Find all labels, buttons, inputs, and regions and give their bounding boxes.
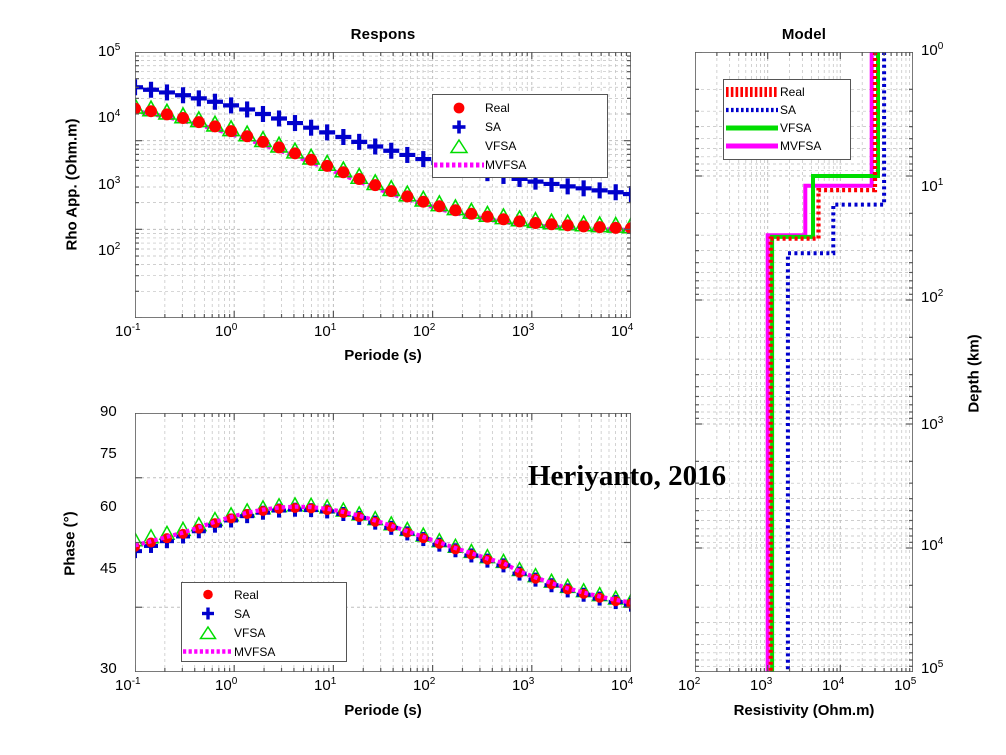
- phase-ytick-75: 75: [100, 445, 117, 462]
- response-ytick-1e3: 103: [98, 175, 120, 193]
- model-ytick-1e0: 100: [921, 41, 943, 59]
- model-xtick-1e3: 103: [750, 676, 772, 694]
- exp: 4: [839, 676, 845, 687]
- phase-ytick-30: 30: [100, 660, 117, 677]
- legend-row-real: Real: [724, 83, 850, 101]
- plus-icon: [433, 119, 485, 135]
- response-xtick-1e1: 101: [314, 322, 336, 340]
- dotted-line-icon: [182, 646, 234, 657]
- exp: 5: [938, 659, 944, 670]
- legend-label: VFSA: [234, 626, 265, 640]
- exp: 5: [115, 42, 121, 53]
- exp: 3: [767, 676, 773, 687]
- exp: 3: [115, 175, 121, 186]
- response-ytick-1e4: 104: [98, 108, 120, 126]
- response-ytick-1e5: 105: [98, 42, 120, 60]
- model-xtick-1e2: 102: [678, 676, 700, 694]
- legend-label: MVFSA: [234, 645, 275, 659]
- circle-icon: [182, 588, 234, 601]
- exp: 2: [695, 676, 701, 687]
- model-xtick-1e4: 104: [822, 676, 844, 694]
- phase-ytick-90: 90: [100, 403, 117, 420]
- exp: 2: [430, 322, 436, 333]
- response-xtick-1e3: 103: [512, 322, 534, 340]
- response-xtick-1e4: 104: [611, 322, 633, 340]
- phase-xaxis-label: Periode (s): [268, 702, 498, 719]
- phase-xtick-1em1: 10-1: [115, 676, 141, 694]
- exp: 2: [115, 241, 121, 252]
- exp: 0: [232, 322, 238, 333]
- model-ytick-1e2: 102: [921, 288, 943, 306]
- exp: 1: [938, 177, 944, 188]
- response-panel: Respons: [135, 52, 631, 318]
- legend-row-vfsa: VFSA: [433, 136, 607, 155]
- model-title: Model: [695, 26, 913, 43]
- exp: 4: [938, 536, 944, 547]
- legend-row-real: Real: [433, 98, 607, 117]
- exp: -1: [132, 676, 141, 687]
- exp: 4: [628, 676, 634, 687]
- circle-icon: [433, 101, 485, 115]
- exp: 3: [529, 676, 535, 687]
- legend-label: Real: [234, 588, 259, 602]
- solid-line-icon: [724, 140, 780, 152]
- model-ytick-1e5: 105: [921, 659, 943, 677]
- response-plot-area: [135, 52, 631, 318]
- phase-xtick-1e1: 101: [314, 676, 336, 694]
- legend-label: SA: [234, 607, 250, 621]
- triangle-icon: [433, 138, 485, 154]
- exp: 4: [628, 322, 634, 333]
- exp: 3: [938, 415, 944, 426]
- response-xtick-1e0: 100: [215, 322, 237, 340]
- plus-icon: [182, 606, 234, 621]
- legend-row-sa: SA: [724, 101, 850, 119]
- exp: 1: [331, 676, 337, 687]
- response-xtick-1e2: 102: [413, 322, 435, 340]
- watermark-citation: Heriyanto, 2016: [528, 460, 726, 493]
- legend-label: SA: [485, 120, 501, 134]
- legend-row-vfsa: VFSA: [182, 623, 346, 642]
- exp: 2: [938, 288, 944, 299]
- model-ytick-1e4: 104: [921, 536, 943, 554]
- legend-label: Real: [485, 101, 510, 115]
- phase-legend: Real SA VFSA MVFSA: [181, 582, 347, 662]
- exp: -1: [132, 322, 141, 333]
- model-ytick-1e3: 103: [921, 415, 943, 433]
- legend-label: Real: [780, 85, 805, 99]
- legend-label: VFSA: [780, 121, 811, 135]
- exp: 3: [529, 322, 535, 333]
- dotted-line-icon: [724, 104, 780, 116]
- model-legend: Real SA VFSA MVFSA: [723, 79, 851, 160]
- model-xtick-1e5: 105: [894, 676, 916, 694]
- phase-xtick-1e2: 102: [413, 676, 435, 694]
- solid-line-icon: [724, 122, 780, 134]
- response-xtick-1em1: 10-1: [115, 322, 141, 340]
- triangle-icon: [182, 625, 234, 640]
- phase-xtick-1e0: 100: [215, 676, 237, 694]
- phase-ytick-45: 45: [100, 560, 117, 577]
- exp: 0: [232, 676, 238, 687]
- model-ytick-1e1: 101: [921, 177, 943, 195]
- response-legend: Real SA VFSA MVFSA: [432, 94, 608, 178]
- legend-label: MVFSA: [485, 158, 526, 172]
- response-xaxis-label: Periode (s): [268, 347, 498, 364]
- legend-row-mvfsa: MVFSA: [182, 642, 346, 661]
- legend-row-sa: SA: [182, 604, 346, 623]
- model-yaxis-label: Depth (km): [966, 279, 983, 469]
- legend-label: SA: [780, 103, 796, 117]
- legend-label: MVFSA: [780, 139, 821, 153]
- exp: 2: [430, 676, 436, 687]
- legend-label: VFSA: [485, 139, 516, 153]
- exp: 5: [911, 676, 917, 687]
- phase-xtick-1e3: 103: [512, 676, 534, 694]
- legend-row-mvfsa: MVFSA: [433, 155, 607, 174]
- response-yaxis-label: Rho App. (Ohm.m): [64, 65, 81, 305]
- exp: 0: [938, 41, 944, 52]
- exp: 4: [115, 108, 121, 119]
- legend-row-vfsa: VFSA: [724, 119, 850, 137]
- phase-yaxis-label: Phase (°): [62, 464, 79, 624]
- phase-ytick-60: 60: [100, 498, 117, 515]
- legend-row-real: Real: [182, 585, 346, 604]
- dotted-line-icon: [433, 159, 485, 171]
- exp: 1: [331, 322, 337, 333]
- phase-xtick-1e4: 104: [611, 676, 633, 694]
- response-title: Respons: [135, 26, 631, 43]
- response-ytick-1e2: 102: [98, 241, 120, 259]
- legend-row-mvfsa: MVFSA: [724, 137, 850, 155]
- legend-row-sa: SA: [433, 117, 607, 136]
- model-xaxis-label: Resistivity (Ohm.m): [690, 702, 918, 719]
- thick-dash-icon: [724, 86, 780, 98]
